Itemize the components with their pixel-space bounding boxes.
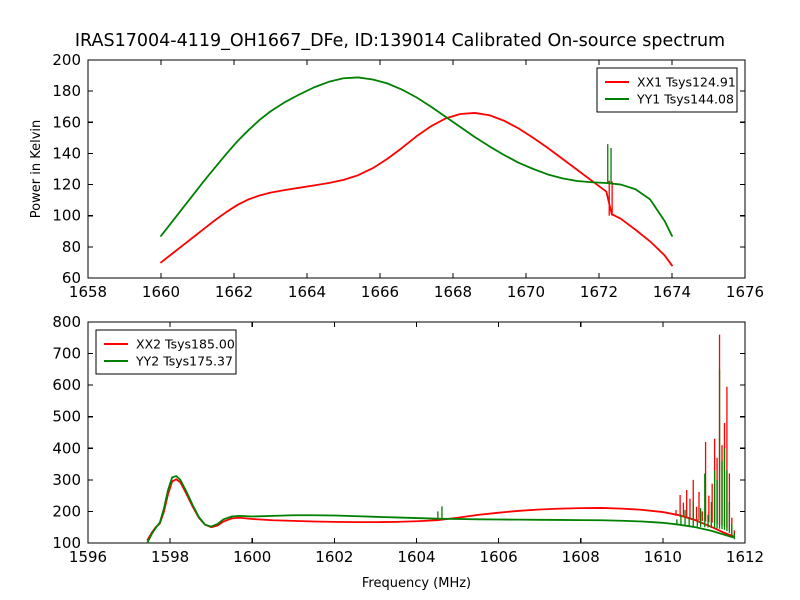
top-panel-ylabel: Power in Kelvin [29,120,44,218]
top-panel-yticklabel: 120 [52,176,81,194]
bottom-panel-yticklabel: 200 [52,502,81,520]
bottom-panel-xticklabel: 1600 [233,548,271,566]
top-panel-xticklabel: 1670 [507,283,545,301]
top-panel-legend-label-1: YY1 Tsys144.08 [636,92,734,107]
top-panel-yticklabel: 180 [52,82,81,100]
plot-canvas: IRAS17004-4119_OH1667_DFe, ID:139014 Cal… [0,0,800,600]
bottom-panel-xticklabel: 1608 [562,548,600,566]
bottom-panel-yticklabel: 100 [52,534,81,552]
bottom-panel-xticklabel: 1612 [726,548,764,566]
bottom-panel-yticklabel: 700 [52,345,81,363]
bottom-panel-legend-label-1: YY2 Tsys175.37 [135,354,233,369]
top-panel-xticklabel: 1664 [288,283,326,301]
top-panel-xticklabel: 1660 [142,283,180,301]
bottom-panel-yticklabel: 400 [52,439,81,457]
figure-title: IRAS17004-4119_OH1667_DFe, ID:139014 Cal… [75,31,725,51]
top-panel-yticklabel: 60 [62,269,81,287]
figure-container: IRAS17004-4119_OH1667_DFe, ID:139014 Cal… [0,0,800,600]
bottom-panel-legend-label-0: XX2 Tsys185.00 [136,337,235,352]
top-panel-xticklabel: 1672 [580,283,618,301]
top-panel-xticklabel: 1666 [361,283,399,301]
bottom-panel-yticklabel: 300 [52,471,81,489]
bottom-panel-yticklabel: 800 [52,313,81,331]
top-panel-yticklabel: 200 [52,51,81,69]
top-panel-yticklabel: 100 [52,207,81,225]
top-panel-yticklabel: 160 [52,113,81,131]
top-panel-yticklabel: 140 [52,144,81,162]
bottom-panel-xticklabel: 1598 [151,548,189,566]
top-panel-xticklabel: 1668 [434,283,472,301]
bottom-panel-xticklabel: 1602 [315,548,353,566]
top-panel-xticklabel: 1676 [726,283,764,301]
bottom-panel-xlabel: Frequency (MHz) [362,576,471,591]
top-panel-xticklabel: 1662 [215,283,253,301]
top-panel-legend-label-0: XX1 Tsys124.91 [637,75,736,90]
bottom-panel-yticklabel: 600 [52,376,81,394]
bottom-panel-xticklabel: 1604 [397,548,435,566]
bottom-panel-yticklabel: 500 [52,408,81,426]
bottom-panel-xticklabel: 1606 [480,548,518,566]
top-panel-xticklabel: 1674 [653,283,691,301]
top-panel-yticklabel: 80 [62,238,81,256]
bottom-panel-xticklabel: 1610 [644,548,682,566]
